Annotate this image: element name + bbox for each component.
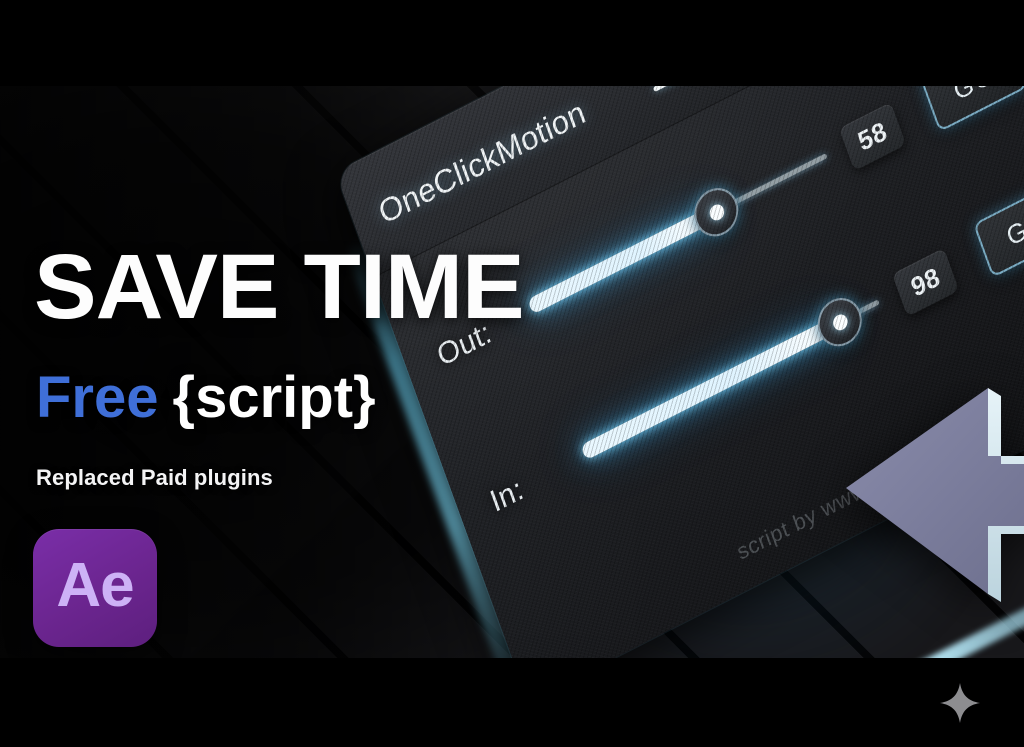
panel-watermark: script by www.the xyxy=(734,459,905,566)
slider-knob-in[interactable] xyxy=(811,290,868,354)
subtitle-line: Free{script} xyxy=(36,369,376,427)
tagline: Replaced Paid plugins xyxy=(36,465,273,491)
subtitle-free: Free xyxy=(36,365,159,430)
after-effects-logo-text: Ae xyxy=(56,555,133,617)
value-in[interactable]: 98 xyxy=(892,248,959,317)
content-frame: OneClickMotion Out: xyxy=(0,86,1024,658)
slider-knob-out[interactable] xyxy=(688,180,745,244)
page-title: SAVE TIME xyxy=(34,244,524,331)
slider-fill-out xyxy=(527,206,715,314)
go-button-out[interactable]: GO xyxy=(920,86,1024,132)
slider-label-in: In: xyxy=(486,472,528,520)
letterbox-top xyxy=(0,0,1024,86)
hamburger-icon[interactable] xyxy=(643,86,696,92)
go-button-in[interactable]: GO xyxy=(973,179,1024,278)
letterbox-bottom xyxy=(0,658,1024,747)
subtitle-script: {script} xyxy=(173,365,376,430)
after-effects-logo: Ae xyxy=(33,529,157,647)
sparkle-star-icon xyxy=(938,681,982,725)
value-out[interactable]: 58 xyxy=(839,102,906,171)
promo-graphic: OneClickMotion Out: xyxy=(0,0,1024,747)
